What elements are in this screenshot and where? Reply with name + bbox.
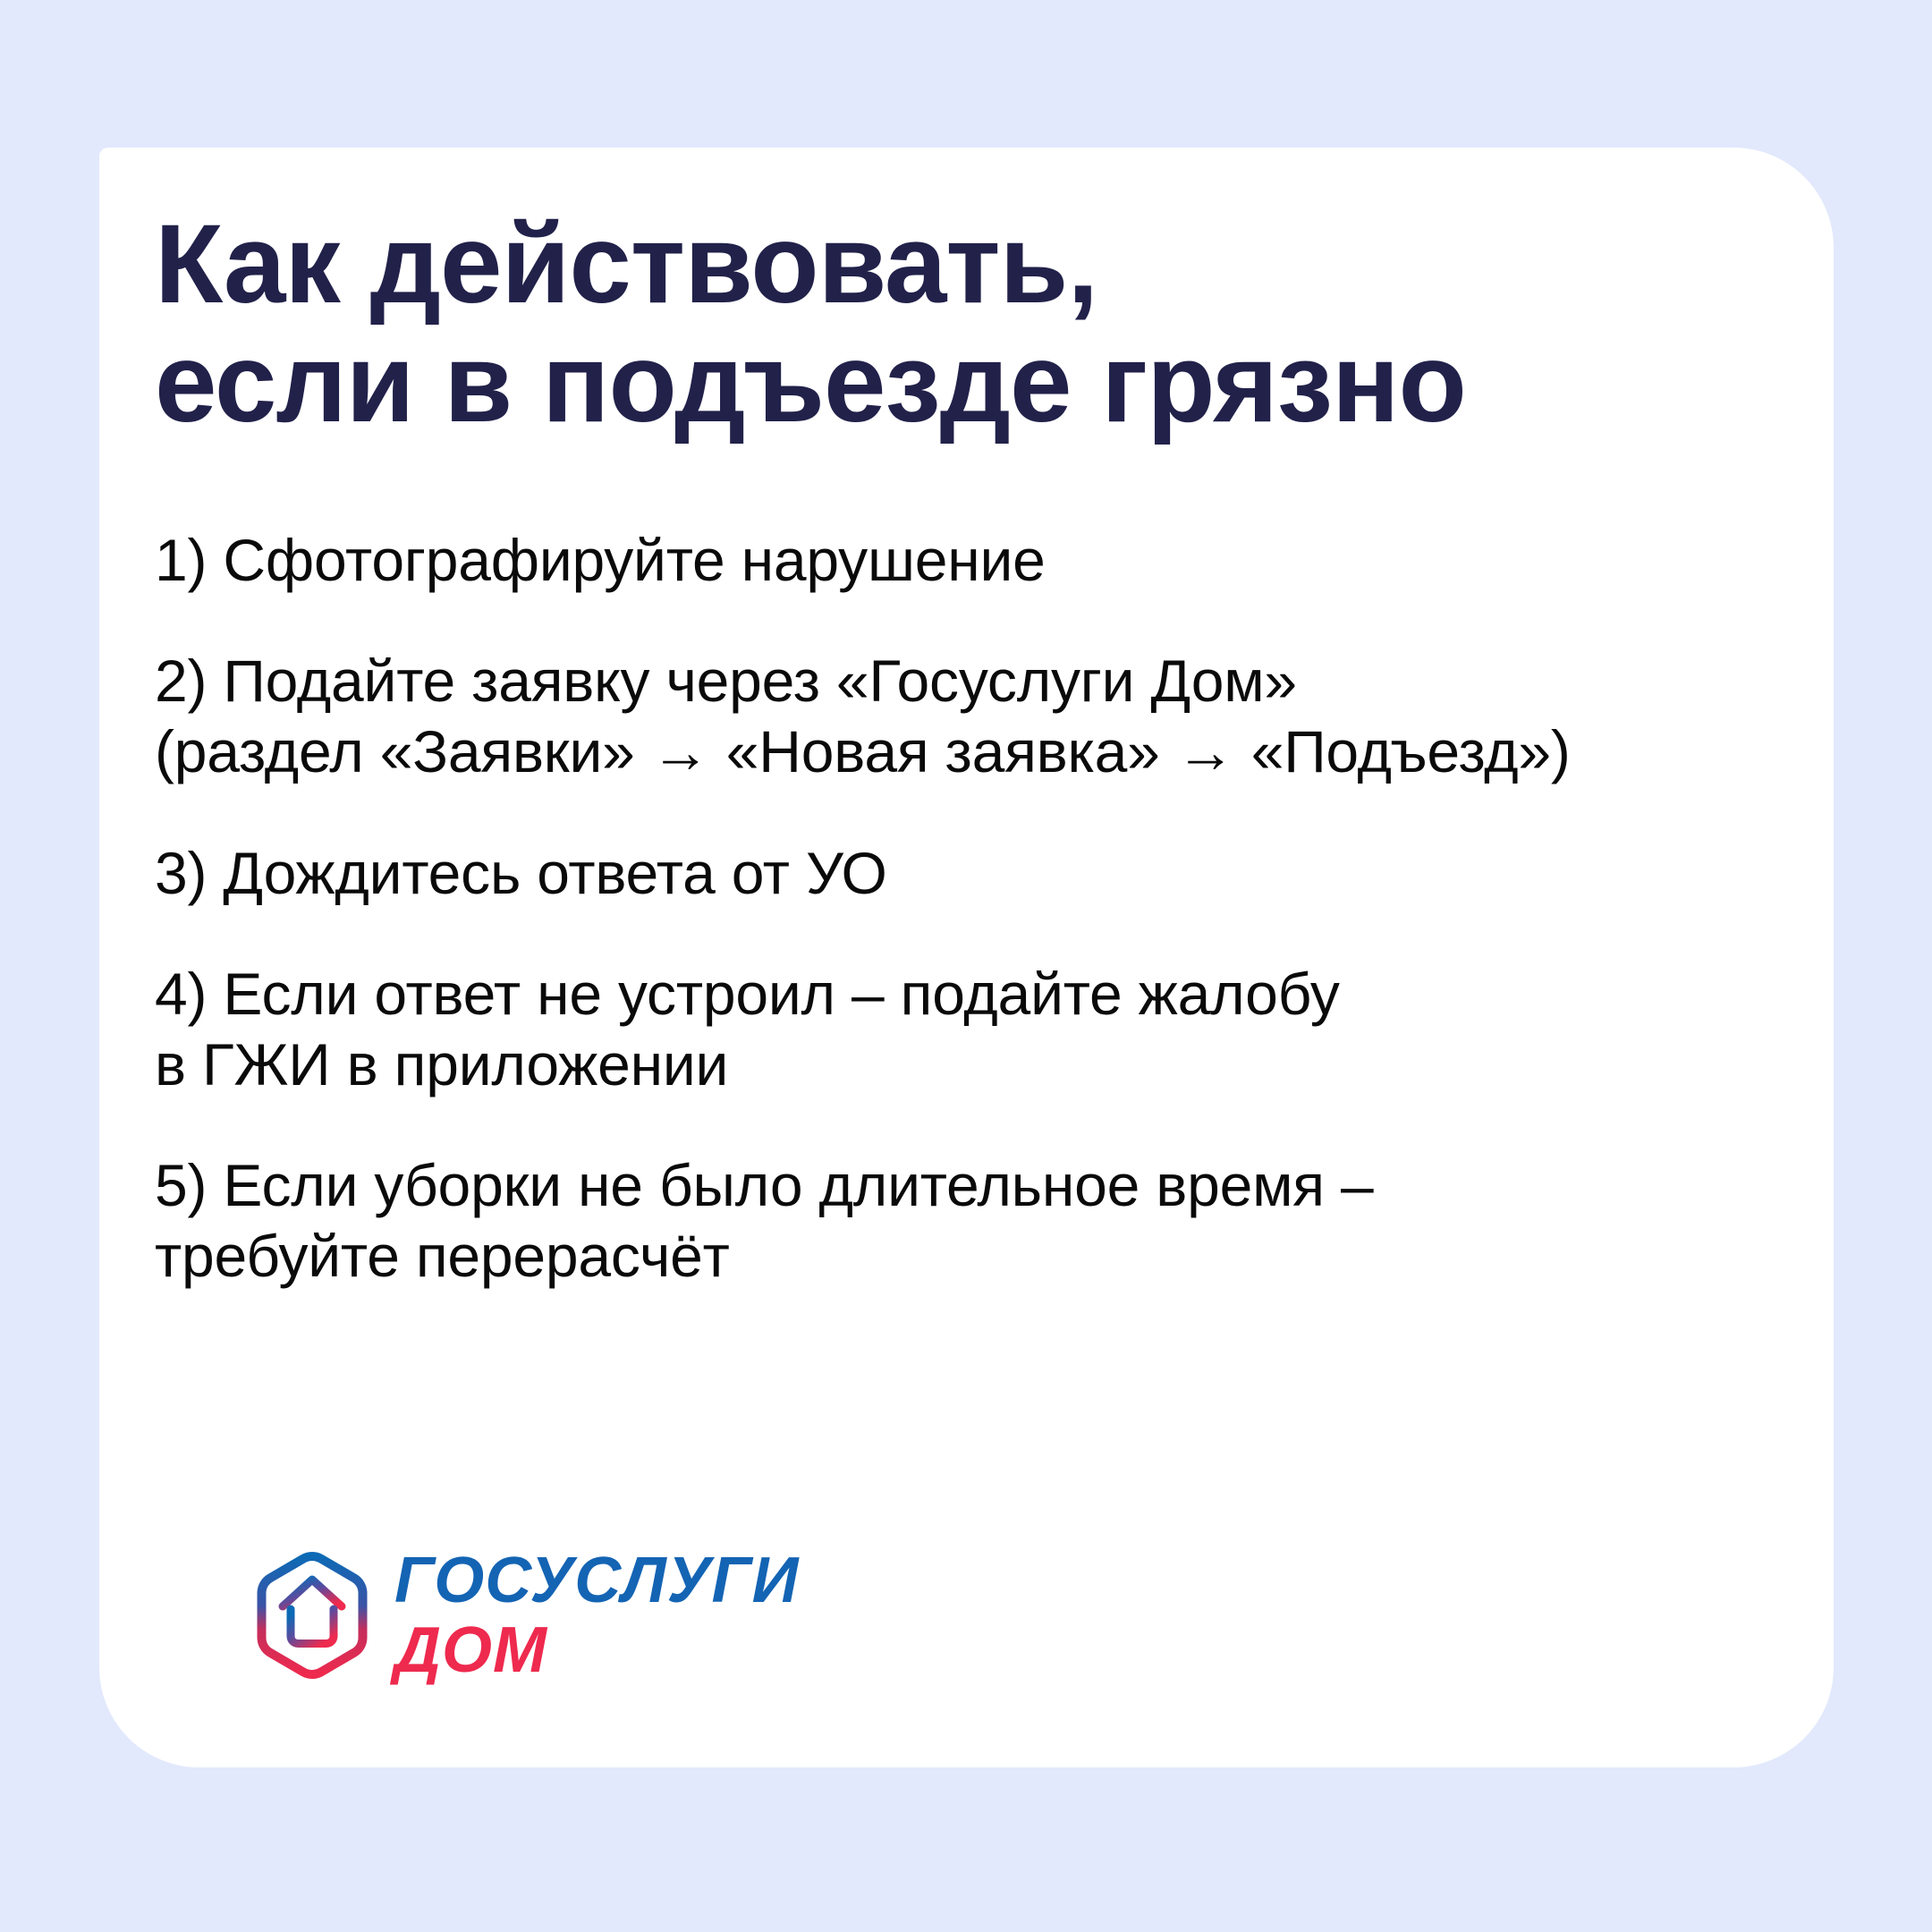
step-item-5: 5) Если уборки не было длительное время … [155, 1150, 1753, 1292]
step-item-1: 1) Сфотографируйте нарушение [155, 525, 1753, 596]
logo-word-gosuslugi: ГОСУСЛУГИ [394, 1549, 799, 1613]
step-item-2: 2) Подайте заявку через «Госуслуги Дом» … [155, 646, 1753, 787]
page-title: Как действовать, если в подъезде грязно [155, 197, 1753, 443]
brand-logo: ГОСУСЛУГИ ДОМ [253, 1549, 799, 1682]
logo-wordmark: ГОСУСЛУГИ ДОМ [394, 1549, 799, 1682]
gosuslugi-dom-house-hexagon-icon [253, 1550, 371, 1681]
poster-canvas: Как действовать, если в подъезде грязно … [0, 0, 1932, 1932]
steps-list: 1) Сфотографируйте нарушение 2) Подайте … [155, 525, 1753, 1292]
logo-word-dom: ДОМ [394, 1619, 799, 1682]
step-item-4: 4) Если ответ не устроил – подайте жалоб… [155, 959, 1753, 1100]
step-item-3: 3) Дождитесь ответа от УО [155, 838, 1753, 909]
content-card: Как действовать, если в подъезде грязно … [99, 148, 1834, 1767]
